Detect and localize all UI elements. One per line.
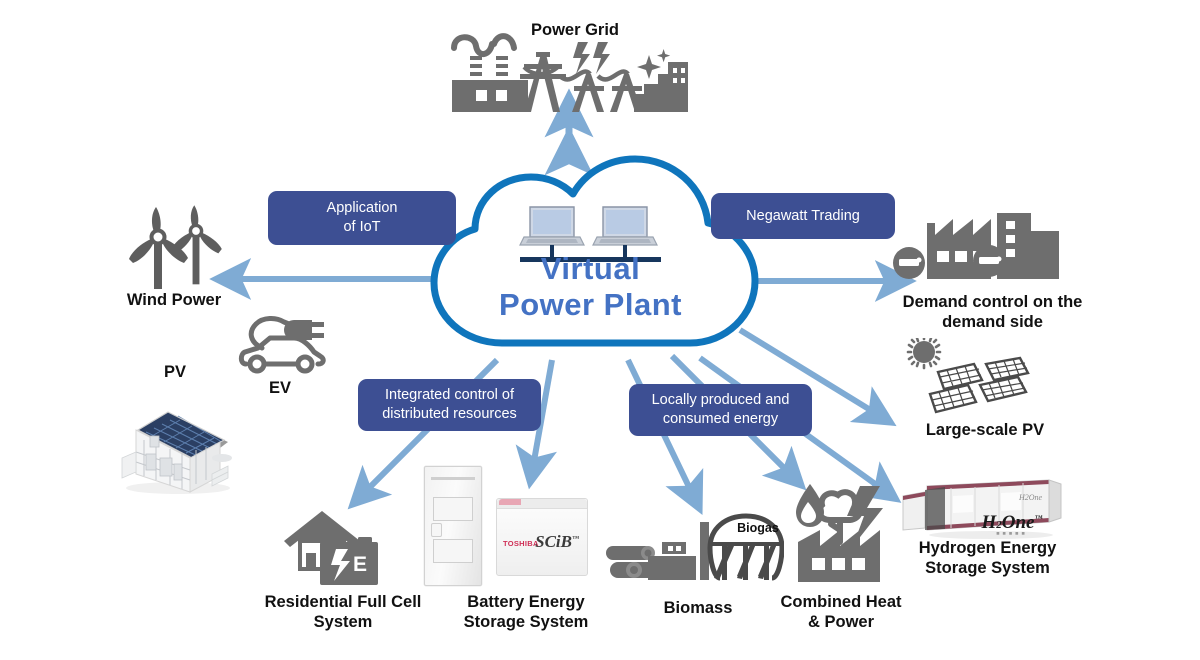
wind-turbine-icon <box>122 205 227 290</box>
virtual-power-plant-cloud: Virtual Power Plant <box>418 155 763 360</box>
caption-large-scale-pv: Large-scale PV <box>895 420 1075 440</box>
caption-pv: PV <box>130 362 220 382</box>
house-with-solar-panels-icon <box>116 392 238 497</box>
toshiba-wordmark: TOSHIBA <box>503 539 539 548</box>
caption-residential-fuel-cell: Residential Full Cell System <box>252 592 434 632</box>
svg-text:H2One: H2One <box>1018 493 1043 502</box>
caption-wind-power: Wind Power <box>100 290 248 310</box>
caption-power-grid: Power Grid <box>495 20 655 40</box>
caption-biomass: Biomass <box>638 598 758 618</box>
battery-cabinet <box>424 466 482 586</box>
power-grid-icon <box>448 28 688 113</box>
label-negawatt-trading[interactable]: Negawatt Trading <box>711 193 895 239</box>
biogas-tank-label: Biogas <box>728 521 788 535</box>
scib-battery-unit: TOSHIBA SCiB™ <box>496 498 588 576</box>
label-application-of-iot[interactable]: Application of IoT <box>268 191 456 245</box>
diagram-canvas: Virtual Power Plant Application of IoT N… <box>0 0 1200 660</box>
caption-hydrogen-energy-storage: Hydrogen Energy Storage System <box>890 538 1085 578</box>
large-scale-pv-icon <box>900 338 1030 420</box>
caption-ev: EV <box>240 378 320 398</box>
label-locally-produced[interactable]: Locally produced and consumed energy <box>629 384 812 436</box>
demand-control-icon <box>893 205 1065 291</box>
caption-battery-energy-storage: Battery Energy Storage System <box>438 592 614 632</box>
scib-wordmark: SCiB™ <box>535 532 579 552</box>
caption-combined-heat-power: Combined Heat & Power <box>756 592 926 632</box>
label-integrated-control[interactable]: Integrated control of distributed resour… <box>358 379 541 431</box>
svg-text:E: E <box>353 553 367 576</box>
combined-heat-power-icon <box>784 480 894 590</box>
h2one-wordmark: H2One™ ■■■■■ <box>952 512 1072 537</box>
battery-cabinet-scib-icon: TOSHIBA SCiB™ <box>424 466 588 586</box>
biomass-icon <box>604 500 784 592</box>
page-title: Virtual Power Plant <box>418 251 763 323</box>
caption-demand-control: Demand control on the demand side <box>890 292 1095 332</box>
electric-vehicle-icon <box>236 312 332 382</box>
house-and-battery-icon: E <box>280 505 400 591</box>
